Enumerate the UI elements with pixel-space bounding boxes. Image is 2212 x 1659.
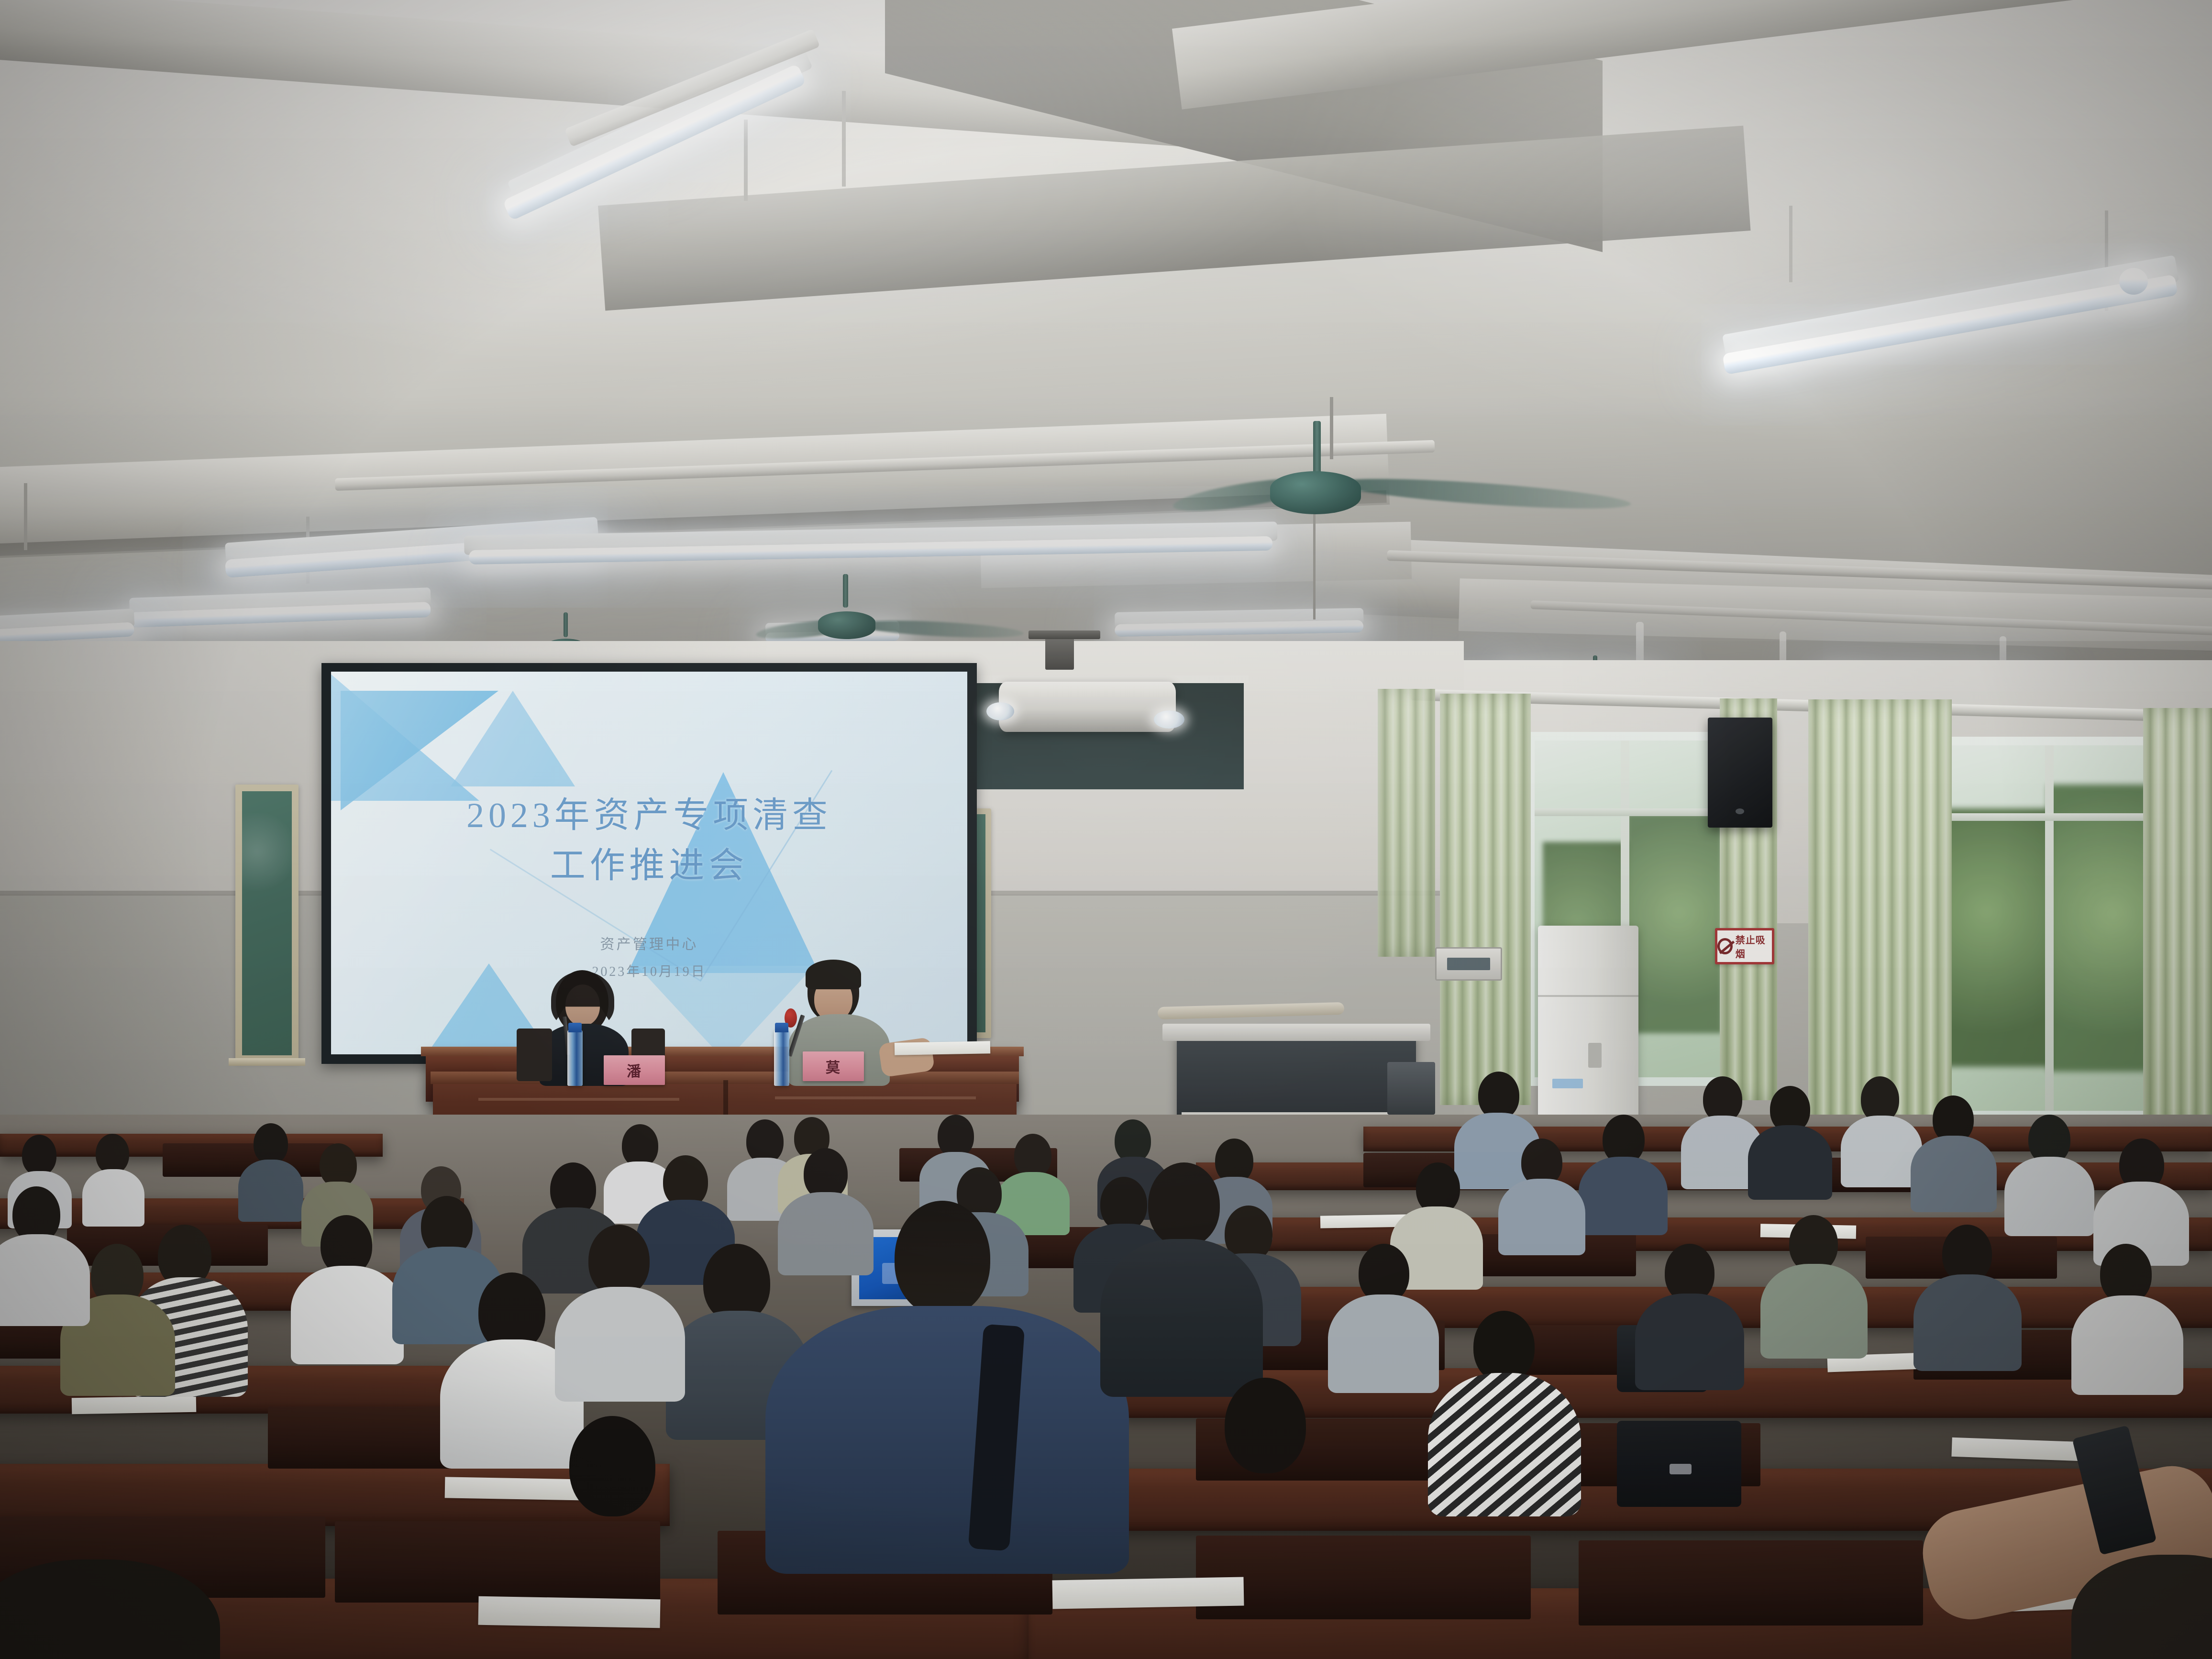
attendee-head xyxy=(569,1416,655,1516)
attendee-body xyxy=(82,1169,144,1227)
water-bottle xyxy=(774,1029,789,1086)
water-bottle-cap xyxy=(568,1023,582,1032)
attendee-body xyxy=(2004,1157,2094,1236)
window-curtain xyxy=(1808,699,1952,1130)
attendee-body xyxy=(2071,1295,2183,1395)
attendee-head-foreground xyxy=(895,1201,990,1316)
window-curtain xyxy=(1440,694,1531,1105)
attendee-head xyxy=(254,1123,288,1164)
attendee-body xyxy=(238,1160,303,1222)
window-foliage xyxy=(1626,813,1722,1033)
handbag-clasp xyxy=(1670,1464,1692,1474)
window-mullion xyxy=(1535,808,1728,816)
window-foliage xyxy=(1942,808,2052,1067)
window-curtain xyxy=(2143,708,2212,1129)
projector-lens xyxy=(986,702,1014,720)
attendee-head xyxy=(320,1143,357,1187)
attendee-body xyxy=(1635,1294,1744,1390)
chalkboard-dust xyxy=(242,813,292,909)
attendee-body xyxy=(1913,1274,2022,1371)
attendee-head xyxy=(1148,1162,1220,1247)
attendee-head xyxy=(1014,1134,1051,1178)
attendee-head xyxy=(1225,1378,1306,1473)
attendee-body xyxy=(555,1287,685,1402)
equipment-cart-top xyxy=(1162,1024,1430,1041)
av-panel-screen xyxy=(1447,958,1490,970)
attendee-body xyxy=(1579,1157,1668,1235)
attendee-striped-jacket xyxy=(1428,1373,1581,1516)
attendee-body xyxy=(1100,1239,1263,1397)
attendee-head xyxy=(1473,1311,1535,1382)
attendee-body xyxy=(0,1234,90,1326)
attendee-head xyxy=(588,1225,650,1296)
desk-paper xyxy=(1052,1577,1244,1609)
presenter-chair xyxy=(517,1029,552,1081)
projector-mount-arm xyxy=(1029,630,1100,639)
attendee-head xyxy=(938,1115,974,1158)
slide-date: 2023年10月19日 xyxy=(331,961,967,980)
podium-top-groove xyxy=(775,1096,976,1099)
attendee-head xyxy=(1100,1177,1147,1231)
cabinet-label xyxy=(1552,1079,1583,1088)
attendee-head xyxy=(96,1134,129,1174)
ceiling-shading xyxy=(0,0,2212,718)
attendee-body-foreground xyxy=(765,1306,1129,1574)
table-papers xyxy=(895,1041,990,1055)
equipment-box xyxy=(1387,1062,1435,1115)
slide-organization: 资产管理中心 xyxy=(331,932,967,953)
slide-title-line2: 工作推进会 xyxy=(331,837,967,888)
attendee-body xyxy=(1498,1179,1585,1255)
bench-back xyxy=(335,1521,660,1603)
no-smoking-sign: 禁止吸烟 xyxy=(1715,928,1774,964)
cabinet-seam xyxy=(1538,995,1638,997)
equipment-cart xyxy=(1177,1033,1416,1124)
projector-indicator-light xyxy=(1154,710,1184,729)
attendee-body xyxy=(1328,1294,1439,1393)
desk-paper xyxy=(478,1596,661,1628)
window-mullion xyxy=(1936,813,2168,821)
window-curtain xyxy=(1378,689,1435,957)
projection-screen: 2023年资产专项清查 工作推进会 资产管理中心 2023年10月19日 xyxy=(331,672,967,1054)
chalk-tray xyxy=(229,1058,305,1066)
slide-title-line1: 2023年资产专项清查 xyxy=(331,786,967,838)
attendee-head xyxy=(622,1124,658,1167)
presenter-hair xyxy=(806,960,861,989)
storage-cabinet xyxy=(1538,926,1638,1127)
desk-paper xyxy=(72,1396,197,1415)
attendee-body xyxy=(1911,1136,1997,1212)
desk-paper xyxy=(445,1477,589,1500)
projector xyxy=(999,682,1176,732)
attendee-body xyxy=(1748,1125,1832,1200)
nameplate-right: 莫 xyxy=(803,1051,864,1081)
attendee-body xyxy=(1760,1264,1868,1359)
water-bottle xyxy=(567,1029,583,1086)
projector-mount xyxy=(1045,636,1074,670)
attendee-head xyxy=(1115,1119,1151,1162)
classroom-meeting-photo: 2023年资产专项清查 工作推进会 资产管理中心 2023年10月19日 禁止吸… xyxy=(0,0,2212,1659)
window-mullion xyxy=(2045,745,2054,1111)
podium-top-groove xyxy=(478,1098,679,1101)
no-smoking-icon xyxy=(1717,938,1733,954)
no-smoking-label: 禁止吸烟 xyxy=(1736,932,1772,960)
attendee-head xyxy=(22,1135,56,1176)
attendee-body xyxy=(291,1266,404,1364)
water-bottle-cap xyxy=(775,1023,788,1032)
attendee-head xyxy=(746,1119,784,1163)
attendee-body xyxy=(1841,1116,1922,1187)
attendee-body xyxy=(778,1192,874,1275)
nameplate-left: 潘 xyxy=(604,1055,665,1085)
cabinet-handle[interactable] xyxy=(1588,1043,1602,1068)
bench-back xyxy=(1196,1536,1531,1619)
attendee-head xyxy=(1478,1072,1519,1119)
bench-back xyxy=(1579,1540,1923,1626)
wall-speaker-port xyxy=(1736,808,1744,814)
